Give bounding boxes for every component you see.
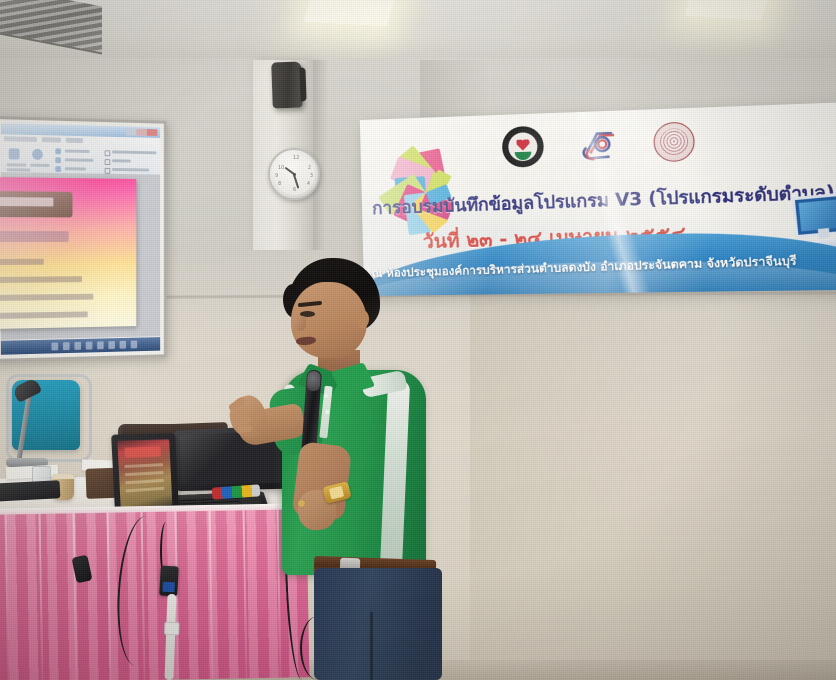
wall-shadow: [470, 262, 836, 680]
ribbon-commands: [5, 145, 158, 171]
heart-emblem-logo: [502, 126, 544, 168]
ceiling-air-vent: [0, 0, 102, 54]
nose: [292, 316, 306, 331]
slide-subtitle: [0, 231, 69, 242]
ribbon-toolbar: [1, 134, 160, 175]
ceiling-light-panel-left: [304, 0, 396, 26]
ceiling-light-panel-right: [684, 0, 769, 20]
projection-screen: [0, 116, 167, 362]
ceiling-speaker: [271, 61, 303, 108]
presentation-slide: [0, 177, 136, 329]
clock-face: 12 2 3 4 6 8 9 10: [273, 153, 315, 195]
thai-official-seal-logo: [653, 121, 695, 162]
slide-title-box: [0, 191, 72, 218]
ceiling: [0, 0, 836, 64]
laptop-screen: [117, 439, 172, 509]
organization-logos: [502, 120, 695, 167]
side-device: [0, 480, 60, 502]
ear: [356, 310, 369, 328]
seminar-photo-scene: 12 2 3 4 6 8 9 10: [0, 0, 836, 680]
power-adapter: [159, 566, 179, 597]
presentation-canvas: [1, 172, 160, 340]
ribbon-tabs: [4, 136, 83, 143]
trousers: [314, 568, 442, 680]
ribbon-hexagon-logo: [579, 125, 618, 163]
gold-ring: [298, 500, 305, 507]
presenter-person: [236, 258, 436, 680]
wall-clock: 12 2 3 4 6 8 9 10: [268, 148, 320, 200]
os-taskbar: [1, 337, 160, 355]
